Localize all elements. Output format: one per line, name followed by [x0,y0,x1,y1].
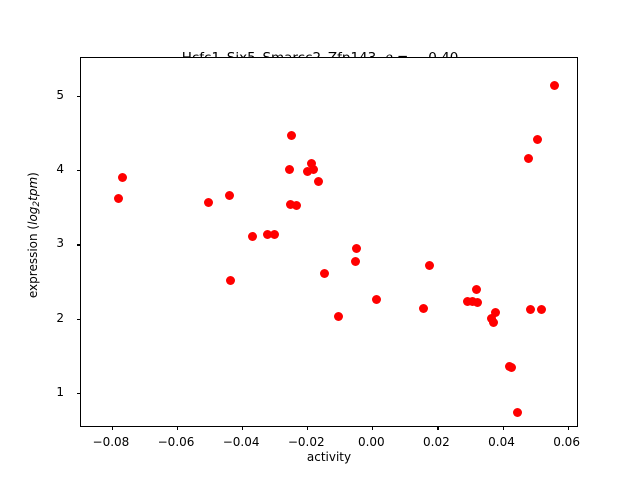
y-axis-label-log: log [26,207,40,225]
y-tick-mark [77,244,81,245]
y-axis-label-prefix: expression ( [26,225,40,298]
y-tick-label: 5 [56,88,64,102]
data-point [513,408,522,417]
data-point [292,201,301,210]
y-tick-label: 2 [56,311,64,325]
data-point [114,194,123,203]
data-point [372,295,381,304]
x-tick-label: −0.08 [93,435,130,449]
y-axis-label: expression (log2tpm) [26,50,42,420]
data-point [489,318,498,327]
data-point [270,230,279,239]
x-tick-label: 0.02 [423,435,450,449]
data-point [507,363,516,372]
scatter-plot-figure: Hcfc1_Six5_Smarcc2_Zfp143, ρ = − 0.40 mm… [0,0,640,480]
x-axis-label: activity [80,450,578,464]
x-tick-label: 0.06 [553,435,580,449]
plot-axes-frame [80,57,578,427]
data-point [533,135,542,144]
data-point [226,276,235,285]
data-point [491,308,500,317]
data-point [118,173,127,182]
data-point [473,298,482,307]
x-tick-label: −0.06 [158,435,195,449]
data-point [472,285,481,294]
data-point [425,261,434,270]
x-axis-tick-labels: −0.08−0.06−0.04−0.020.000.020.040.06 [80,427,578,451]
y-tick-label: 3 [56,236,64,250]
data-point [526,305,535,314]
x-tick-label: −0.02 [288,435,325,449]
data-point [550,81,559,90]
y-tick-mark [77,170,81,171]
data-point [314,177,323,186]
y-axis-label-tpm: tpm [26,177,40,201]
y-tick-label: 4 [56,162,64,176]
data-point [320,269,329,278]
data-point [309,165,318,174]
y-tick-label: 1 [56,385,64,399]
y-tick-mark [77,319,81,320]
y-tick-mark [77,393,81,394]
data-point [524,154,533,163]
data-point [334,312,343,321]
plot-data-area [81,58,577,426]
y-axis-label-suffix: ) [26,172,40,177]
data-point [248,232,257,241]
data-point [225,191,234,200]
x-tick-label: 0.00 [358,435,385,449]
y-axis-label-subscript: 2 [32,201,42,207]
data-point [352,244,361,253]
y-tick-mark [77,96,81,97]
data-point [419,304,428,313]
data-point [537,305,546,314]
data-point [204,198,213,207]
x-tick-label: −0.04 [223,435,260,449]
x-tick-label: 0.04 [488,435,515,449]
data-point [285,165,294,174]
data-point [287,131,296,140]
data-point [351,257,360,266]
